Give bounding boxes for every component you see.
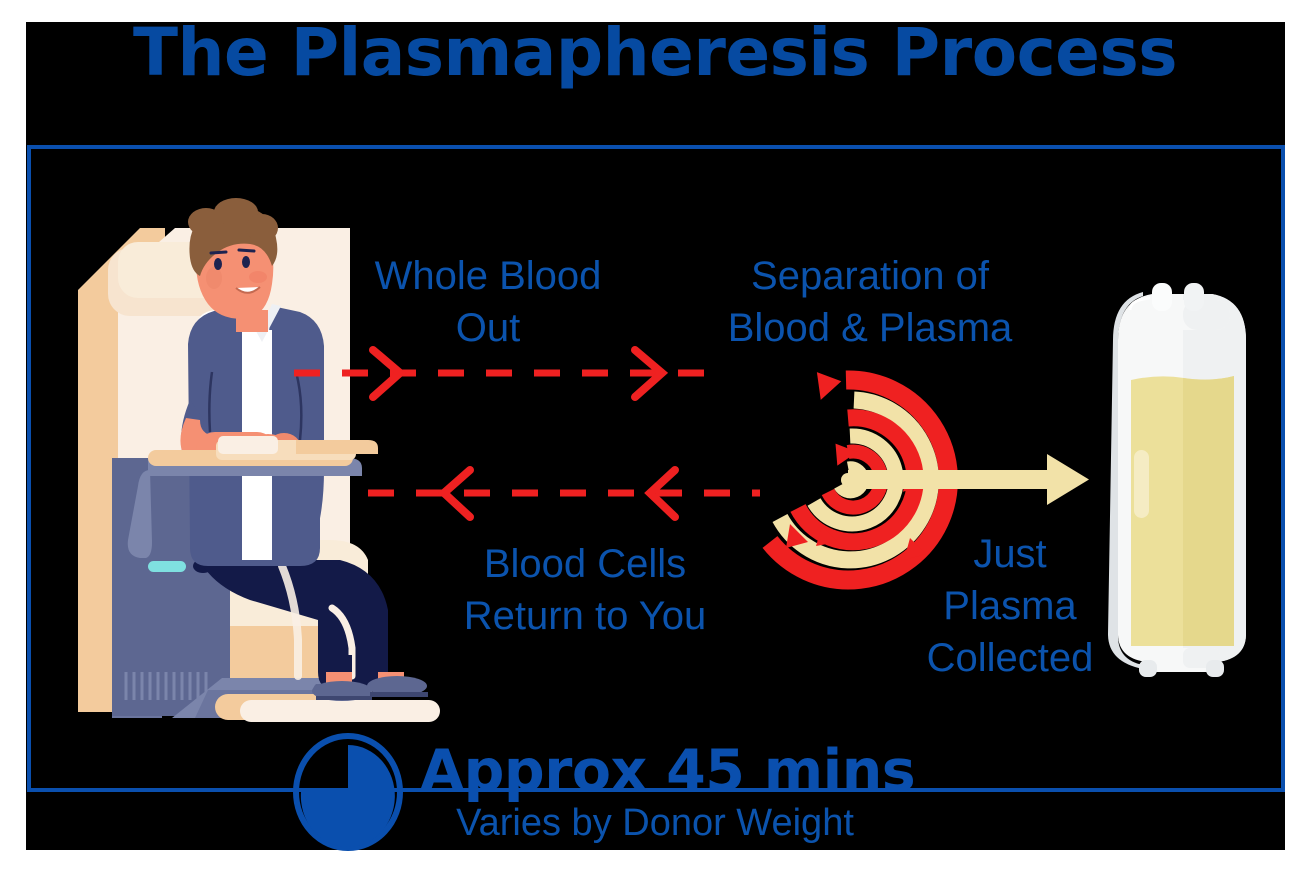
background-panel	[26, 22, 1285, 850]
footer-note-text: Varies by Donor Weight	[0, 802, 1310, 845]
label-just-plasma-line2: Plasma	[900, 580, 1120, 632]
label-blood-cells-return-to-you: Blood Cells Return to You	[400, 538, 770, 642]
infographic-canvas: The Plasmapheresis Process	[0, 0, 1310, 873]
footer-duration-text: Approx 45 mins	[420, 738, 915, 804]
page-title: The Plasmapheresis Process	[0, 14, 1310, 91]
label-whole-blood-out: Whole Blood Out	[318, 250, 658, 354]
label-whole-blood-out-line2: Out	[318, 302, 658, 354]
label-blood-cells-line1: Blood Cells	[400, 538, 770, 590]
label-whole-blood-out-line1: Whole Blood	[318, 250, 658, 302]
label-blood-cells-line2: Return to You	[400, 590, 770, 642]
label-just-plasma-collected: Just Plasma Collected	[900, 528, 1120, 684]
label-separation-of-blood-and-plasma: Separation of Blood & Plasma	[690, 250, 1050, 354]
label-separation-line1: Separation of	[690, 250, 1050, 302]
label-just-plasma-line3: Collected	[900, 632, 1120, 684]
label-just-plasma-line1: Just	[900, 528, 1120, 580]
label-separation-line2: Blood & Plasma	[690, 302, 1050, 354]
